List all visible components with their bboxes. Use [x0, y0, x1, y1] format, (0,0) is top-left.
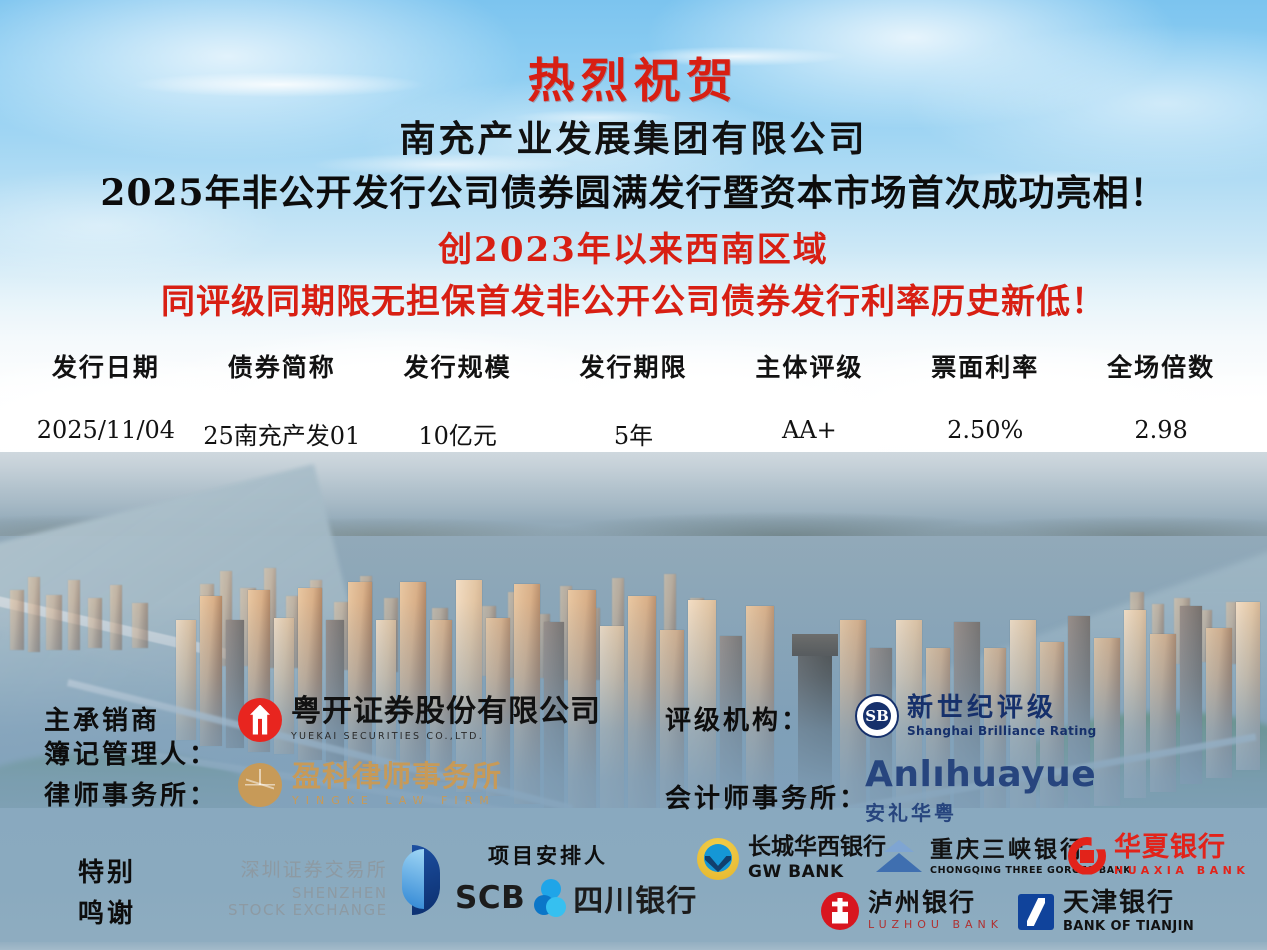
- yingke-name-cn: 盈科律师事务所: [292, 762, 502, 791]
- brilliance-name-en: Shanghai Brilliance Rating: [907, 724, 1097, 738]
- tianjin-name-cn: 天津银行: [1063, 890, 1194, 916]
- accountant-label: 会计师事务所：: [665, 778, 868, 815]
- underwriter-label-line2: 簿记管理人：: [44, 734, 218, 771]
- gwbank-mark-icon: [697, 838, 739, 880]
- luzhou-name-en: LUZHOU BANK: [868, 918, 1003, 931]
- brilliance-seal-icon: SB: [855, 694, 899, 738]
- huaxia-bank-logo: 华夏银行 HUAXIA BANK: [1068, 834, 1249, 877]
- huaxia-name-en: HUAXIA BANK: [1114, 864, 1249, 877]
- table-header-bond-name: 债券简称: [194, 348, 370, 384]
- great-wall-west-china-bank-logo: 长城华西银行 GW BANK: [697, 836, 886, 882]
- table-cell-rating: AA+: [721, 416, 897, 451]
- cqtgb-mark-icon: [876, 840, 922, 874]
- yuekai-name-cn: 粤开证券股份有限公司: [291, 697, 601, 727]
- yingke-mark-icon: [238, 763, 282, 807]
- table-cell-bond-name: 25南充产发01: [194, 416, 370, 451]
- bond-summary-table: 发行日期 债券简称 发行规模 发行期限 主体评级 票面利率 全场倍数 2025/…: [18, 348, 1249, 451]
- thanks-label-line1: 特别: [78, 852, 136, 889]
- anlihuayue-name-cn: 安礼华粤: [865, 797, 1096, 826]
- yingke-law-firm-logo: 盈科律师事务所 YINGKE LAW FIRM: [238, 762, 502, 807]
- underwriter-label-line1: 主承销商: [44, 700, 160, 737]
- headline-line-4: 同评级同期限无担保首发非公开公司债券发行利率历史新低！: [0, 274, 1267, 323]
- huaxia-mark-icon: [1068, 837, 1106, 875]
- arranger-label: 项目安排人: [488, 840, 608, 870]
- lawfirm-label: 律师事务所：: [44, 775, 218, 812]
- table-cell-subscription: 2.98: [1073, 416, 1249, 451]
- shanghai-brilliance-rating-logo: SB 新世纪评级 Shanghai Brilliance Rating: [855, 694, 1097, 738]
- yuekai-mark-icon: [238, 698, 282, 742]
- poster-canvas: 热烈祝贺 南充产业发展集团有限公司 2025年非公开发行公司债券圆满发行暨资本市…: [0, 0, 1267, 950]
- szse-name-en-line2: STOCK EXCHANGE: [228, 902, 388, 919]
- szse-name-cn: 深圳证券交易所: [241, 855, 388, 882]
- table-cell-tenor: 5年: [546, 416, 722, 451]
- table-header-coupon: 票面利率: [897, 348, 1073, 384]
- table-header-subscription: 全场倍数: [1073, 348, 1249, 384]
- tianjin-mark-icon: [1018, 894, 1054, 930]
- yingke-name-en: YINGKE LAW FIRM: [292, 794, 502, 807]
- anlihuayue-name-en: Anlıhuayue: [865, 757, 1096, 793]
- congratulations-heading: 热烈祝贺: [0, 42, 1267, 111]
- huaxia-name-cn: 华夏银行: [1114, 834, 1249, 861]
- brilliance-name-cn: 新世纪评级: [907, 695, 1097, 721]
- table-header-issue-size: 发行规模: [370, 348, 546, 384]
- thanks-label-line2: 鸣谢: [78, 893, 136, 930]
- table-cell-issue-size: 10亿元: [370, 416, 546, 451]
- gwbank-name-cn: 长城华西银行: [748, 836, 886, 859]
- anlihuayue-logo: Anlıhuayue 安礼华粤: [865, 757, 1096, 826]
- scb-mark-icon: [534, 879, 564, 917]
- luzhou-name-cn: 泸州银行: [868, 890, 1003, 915]
- sichuan-bank-logo: SCB 四川银行: [455, 876, 697, 920]
- headline-line-3: 创2023年以来西南区域: [0, 222, 1267, 271]
- gwbank-name-en: GW BANK: [748, 862, 886, 882]
- scb-name-cn: 四川银行: [573, 876, 697, 920]
- luzhou-bank-logo: 泸州银行 LUZHOU BANK: [821, 890, 1003, 931]
- szse-name-en-line1: SHENZHEN: [292, 885, 388, 902]
- table-header-issue-date: 发行日期: [18, 348, 194, 384]
- company-name: 南充产业发展集团有限公司: [0, 110, 1267, 162]
- scb-name-en: SCB: [455, 880, 525, 916]
- table-cell-issue-date: 2025/11/04: [18, 416, 194, 451]
- headline-line-2: 2025年非公开发行公司债券圆满发行暨资本市场首次成功亮相！: [0, 164, 1267, 216]
- rating-agency-label: 评级机构：: [665, 700, 810, 737]
- table-header-tenor: 发行期限: [546, 348, 722, 384]
- yuekai-securities-logo: 粤开证券股份有限公司 YUEKAI SECURITIES CO.,LTD.: [238, 697, 601, 742]
- shenzhen-stock-exchange-logo: 深圳证券交易所 SHENZHEN STOCK EXCHANGE: [228, 845, 442, 920]
- table-header-rating: 主体评级: [721, 348, 897, 384]
- table-cell-coupon: 2.50%: [897, 416, 1073, 451]
- luzhou-mark-icon: [821, 892, 859, 930]
- yuekai-name-en: YUEKAI SECURITIES CO.,LTD.: [291, 731, 601, 742]
- tianjin-name-en: BANK OF TIANJIN: [1063, 919, 1194, 934]
- bank-of-tianjin-logo: 天津银行 BANK OF TIANJIN: [1018, 890, 1194, 934]
- szse-mark-icon: [396, 845, 442, 915]
